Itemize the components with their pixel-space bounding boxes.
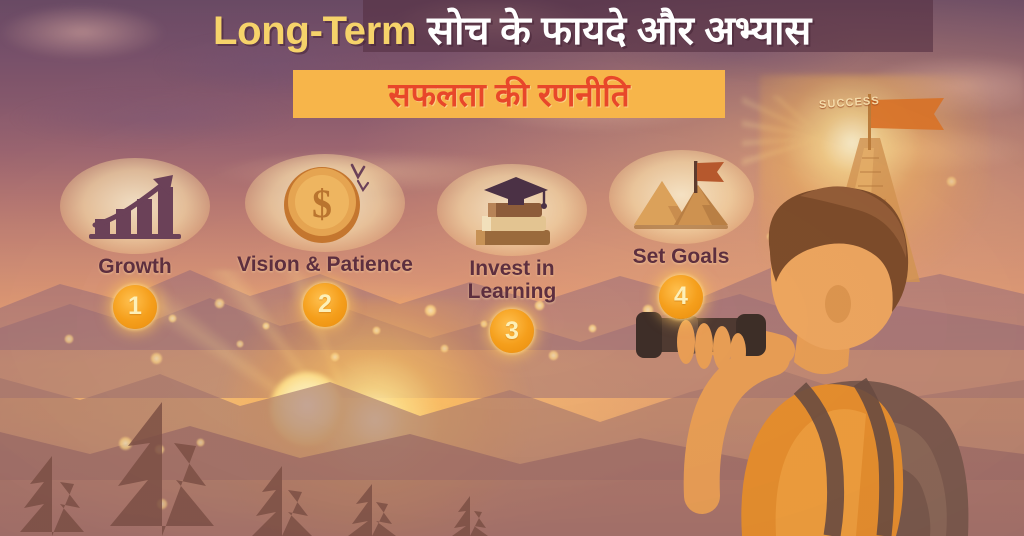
step-card-invest-in-learning[interactable]: Invest in Learning 3	[432, 164, 592, 353]
step-badge-2[interactable]: 2	[303, 283, 347, 327]
title-hindi: सोच के फायदे और अभ्यास	[427, 9, 811, 53]
step-badge-3[interactable]: 3	[490, 309, 534, 353]
step-card-vision-patience[interactable]: $ Vision & Patience 2	[225, 154, 425, 327]
bar-chart-growth-icon	[60, 158, 210, 254]
step-label-invest-in-learning: Invest in Learning	[432, 258, 592, 303]
step-label-growth: Growth	[55, 256, 215, 279]
gold-coin-icon: $	[245, 154, 405, 252]
title-english: Long-Term	[213, 9, 416, 53]
step-card-growth[interactable]: Growth 1	[55, 158, 215, 329]
step-card-set-goals[interactable]: Set Goals 4	[601, 150, 761, 319]
mountain-flag-icon	[609, 150, 754, 244]
step-label-set-goals: Set Goals	[601, 246, 761, 269]
step-label-line2: Learning	[432, 281, 592, 304]
books-graduation-cap-icon	[437, 164, 587, 256]
page-title: Long-Term सोच के फायदे और अभ्यास	[0, 6, 1024, 56]
infographic-poster: SUCCESS	[0, 0, 1024, 536]
subtitle-banner: सफलता की रणनीति	[293, 70, 725, 118]
step-badge-1[interactable]: 1	[113, 285, 157, 329]
step-badge-4[interactable]: 4	[659, 275, 703, 319]
step-label-line1: Invest in	[432, 258, 592, 281]
subtitle-text: सफलता की रणनीति	[388, 78, 629, 111]
step-label-vision-patience: Vision & Patience	[225, 254, 425, 277]
svg-text:$: $	[312, 181, 332, 226]
steps-row: Growth 1 $ Vision & Patience 2	[0, 150, 1024, 380]
